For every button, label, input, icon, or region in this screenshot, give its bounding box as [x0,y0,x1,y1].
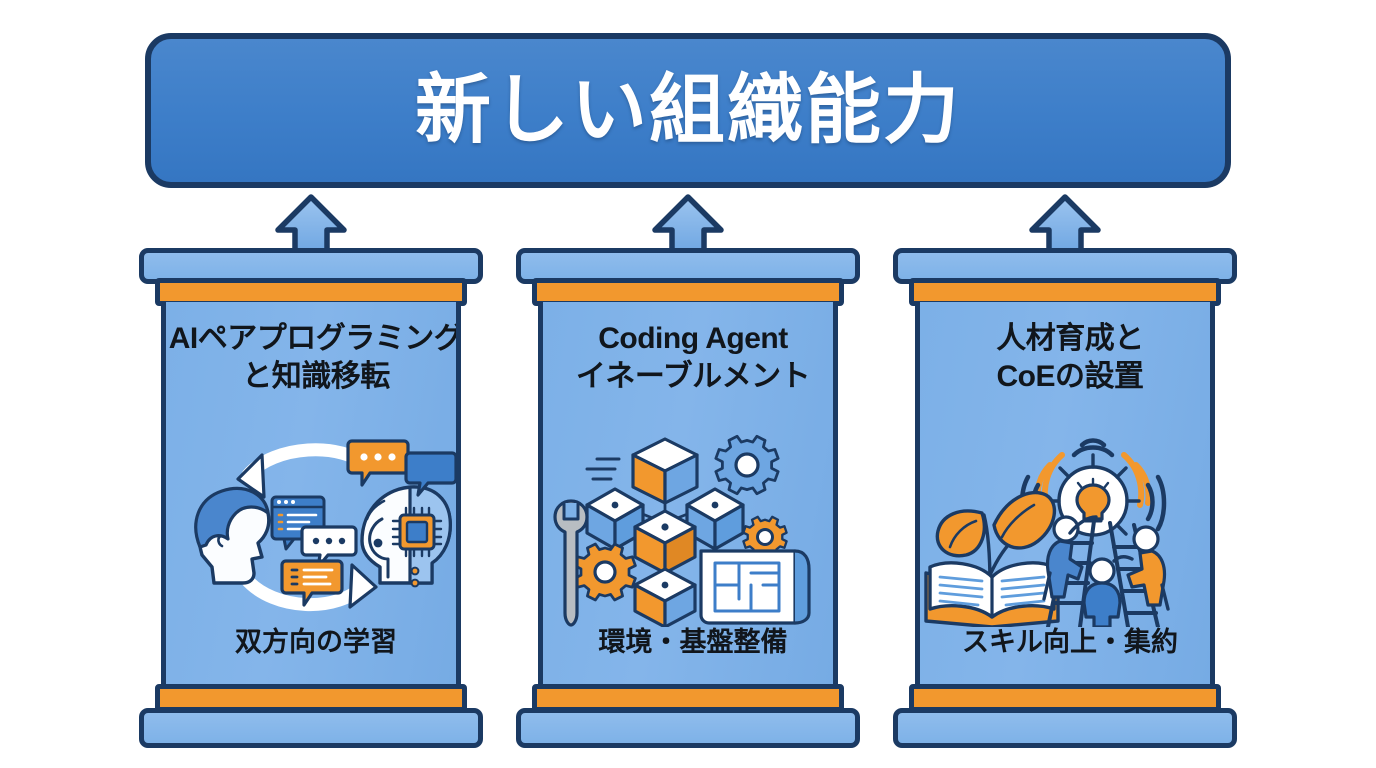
pillar-body: Coding Agent イネーブルメント [538,302,838,687]
header-banner: 新しい組織能力 [145,33,1231,188]
pillar-title-line-2: イネーブルメント [543,358,838,396]
pillar-talent-coe[interactable]: 人材育成と CoEの設置 [893,248,1237,748]
up-arrow-icon-pillar-2 [650,194,726,256]
pillar-title-line-2: と知識移転 [166,358,461,396]
blocks-gears-blueprint-icon [543,427,838,627]
pillar-body: 人材育成と CoEの設置 [915,302,1215,687]
pillar-caption: スキル向上・集約 [920,620,1215,659]
book-ladder-lightbulb-icon [920,427,1215,627]
pillar-caption: 環境・基盤整備 [543,620,838,659]
pillar-title-line-2: CoEの設置 [920,358,1215,396]
pillar-title: AIペアプログラミング と知識移転 [166,320,461,397]
pillar-title-line-1: Coding Agent [543,320,838,358]
pillar-caption: 双方向の学習 [166,620,461,659]
up-arrow-icon-pillar-1 [273,194,349,256]
pillar-ai-pair-programming[interactable]: AIペアプログラミング と知識移転 [139,248,483,748]
pillar-base [139,708,483,748]
page-title: 新しい組織能力 [415,73,961,149]
pillar-title-line-1: AIペアプログラミング [166,320,461,358]
pillar-coding-agent-enablement[interactable]: Coding Agent イネーブルメント [516,248,860,748]
pillar-title-line-1: 人材育成と [920,320,1215,358]
pillar-base [893,708,1237,748]
pillar-title: 人材育成と CoEの設置 [920,320,1215,397]
human-ai-dialogue-icon [166,427,461,627]
pillar-body: AIペアプログラミング と知識移転 [161,302,461,687]
up-arrow-icon-pillar-3 [1027,194,1103,256]
pillar-title: Coding Agent イネーブルメント [543,320,838,397]
diagram-canvas: 新しい組織能力 [0,0,1376,768]
pillar-base [516,708,860,748]
